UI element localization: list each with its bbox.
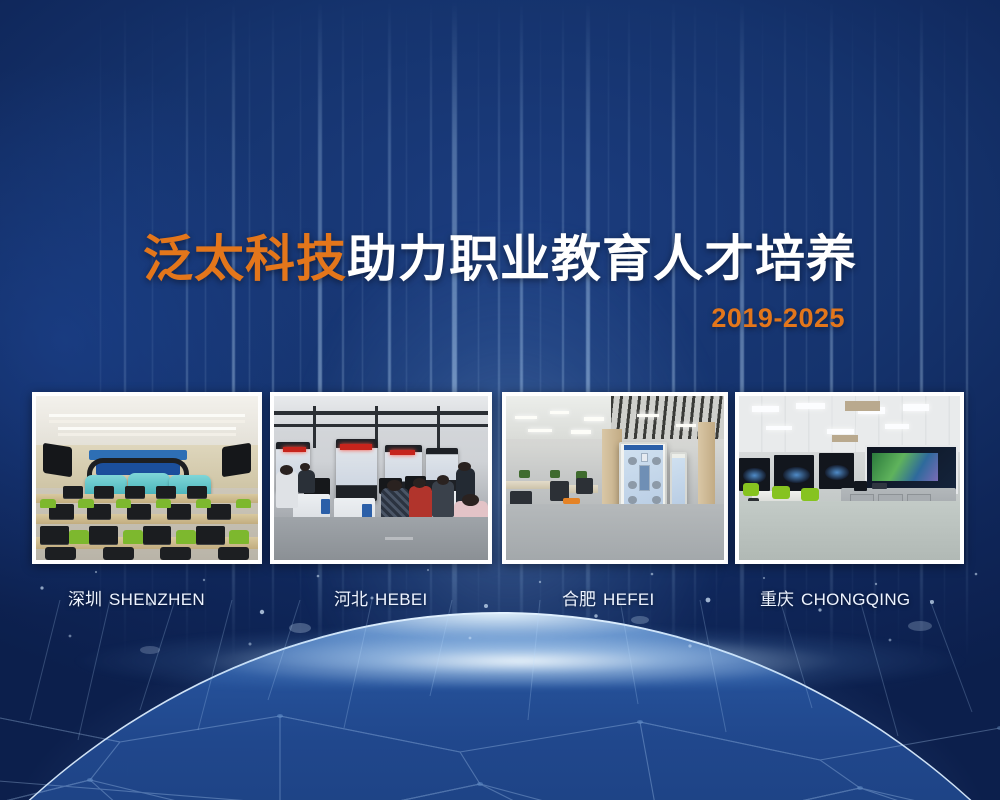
title-rest: 助力职业教育人才培养 xyxy=(347,231,857,287)
caption-en: CHONGQING xyxy=(801,590,910,609)
caption-cn: 合肥 xyxy=(562,590,596,609)
caption-cn: 深圳 xyxy=(68,590,102,609)
caption-cn: 重庆 xyxy=(760,590,794,609)
caption-shenzhen: 深圳SHENZHEN xyxy=(68,585,205,610)
slide-background: 泛太科技助力职业教育人才培养 2019-2025 xyxy=(0,0,1000,800)
photo-hefei-intelligent-vehicle-lab[interactable] xyxy=(502,392,728,564)
caption-cn: 河北 xyxy=(334,590,368,609)
photo-hebei-electrical-training-lab[interactable] xyxy=(270,392,492,564)
title-brand: 泛太科技 xyxy=(143,231,347,287)
title-line: 泛太科技助力职业教育人才培养 xyxy=(0,232,1000,286)
photo-chongqing-smart-classroom[interactable] xyxy=(735,392,964,564)
particle-sparkles xyxy=(0,560,1000,720)
title-year-range: 2019-2025 xyxy=(0,303,1000,334)
caption-en: HEFEI xyxy=(603,590,655,609)
caption-hebei: 河北HEBEI xyxy=(334,585,428,610)
photo-shenzhen-harmonyos-smart-car-lab[interactable] xyxy=(32,392,262,564)
photo-captions: 深圳SHENZHEN 河北HEBEI 合肥HEFEI 重庆CHONGQING xyxy=(32,585,964,611)
slide-title: 泛太科技助力职业教育人才培养 xyxy=(0,232,1000,286)
photo-strip xyxy=(32,392,964,564)
caption-en: HEBEI xyxy=(375,590,428,609)
caption-chongqing: 重庆CHONGQING xyxy=(760,585,910,610)
caption-hefei: 合肥HEFEI xyxy=(562,585,655,610)
caption-en: SHENZHEN xyxy=(109,590,205,609)
